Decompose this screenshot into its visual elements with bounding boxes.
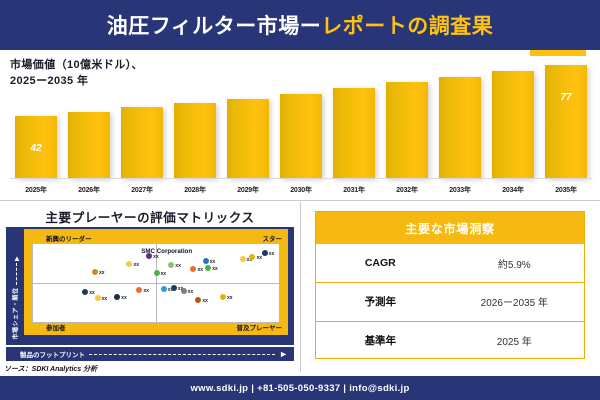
matrix-data-point-label: xx [121,295,127,301]
x-axis-tick-label: 2035年 [541,185,591,195]
matrix-data-point[interactable] [249,254,255,260]
quadrant-label-star: スター [263,233,283,243]
matrix-data-point-label: xx [212,266,218,272]
quadrant-label-emerging-leaders: 新興のリーダー [46,233,92,243]
x-axis-tick-label: 2028年 [170,185,220,195]
insight-row-key: 予測年 [316,294,445,309]
matrix-data-point[interactable] [181,288,187,294]
quadrant-label-participants: 参加者 [46,322,66,332]
matrix-x-axis-row: 製品のフットプリント ► [6,347,294,361]
footer-contact-text: www.sdki.jp | +81-505-050-9337 | info@sd… [190,383,409,394]
insight-row-value: 2025 年 [445,333,584,348]
insight-row-key: CAGR [316,257,445,269]
insight-row-value: 2026ー2035 年 [445,294,584,309]
bar [439,77,481,178]
matrix-data-point-label: xx [153,254,159,260]
matrix-data-point-label: xx [161,271,167,277]
matrix-data-point-label: xx [227,295,233,301]
x-axis-tick-label: 2026年 [64,185,114,195]
bar [68,112,110,178]
matrix-data-point[interactable] [126,261,132,267]
page-title-accent: レポートの調査果 [321,15,493,38]
matrix-data-point-label: xx [197,267,203,273]
matrix-data-point[interactable] [171,285,177,291]
matrix-data-point[interactable] [262,250,268,256]
matrix-data-point[interactable] [220,294,226,300]
matrix-data-point[interactable] [205,265,211,271]
insight-row: CAGR約5.9% [316,244,584,282]
matrix-data-point[interactable] [92,269,98,275]
matrix-data-point[interactable] [240,256,246,262]
key-market-insights-panel: 主要な市場洞察 CAGR約5.9%予測年2026ー2035 年基準年2025 年 [301,201,600,376]
matrix-horizontal-divider [33,283,279,284]
x-axis-tick-label: 2025年 [11,185,61,195]
x-axis-tick-label: 2032年 [382,185,432,195]
matrix-data-point[interactable] [82,289,88,295]
bar [492,71,534,178]
matrix-data-point[interactable] [154,270,160,276]
x-axis-dashes [89,354,275,355]
bar [386,82,428,178]
bar-value-label: 77 [545,92,587,103]
matrix-data-point[interactable] [146,253,152,259]
matrix-data-point-label: xx [99,270,105,276]
matrix-data-point-label: xx [256,255,262,261]
matrix-data-point[interactable] [161,286,167,292]
matrix-title: 主要プレーヤーの評価マトリックス [0,207,300,226]
matrix-frame: ▲ 市場シェア・順位 新興のリーダー スター 参加者 普及プレーヤー SMC C… [6,227,294,345]
matrix-data-point-label: xx [188,289,194,295]
bar [174,103,216,178]
page-footer: www.sdki.jp | +81-505-050-9337 | info@sd… [0,376,600,400]
matrix-data-point[interactable] [95,295,101,301]
matrix-data-point[interactable] [203,258,209,264]
bar [333,88,375,178]
x-axis-arrow-icon: ► [279,350,288,359]
bar [545,65,587,178]
matrix-data-point[interactable] [114,294,120,300]
x-axis-tick-label: 2033年 [435,185,485,195]
x-axis-tick-label: 2031年 [329,185,379,195]
x-axis-tick-label: 2027年 [117,185,167,195]
matrix-data-point-label: xx [210,259,216,265]
x-axis-tick-label: 2030年 [276,185,326,195]
insights-table: 主要な市場洞察 CAGR約5.9%予測年2026ー2035 年基準年2025 年 [315,211,585,359]
quadrant-label-pervasive: 普及プレーヤー [237,322,283,332]
matrix-data-point-label: xx [202,298,208,304]
matrix-data-point[interactable] [190,266,196,272]
bar-value-label: 42 [15,143,57,154]
matrix-data-point-label: xx [102,296,108,302]
insight-row-key: 基準年 [316,333,445,348]
matrix-data-point-label: xx [269,251,275,257]
bar-series: 422025年2026年2027年2028年2029年2030年2031年203… [10,53,592,178]
market-value-bar-chart: 市場価値（10億米ドル）、 2025ー2035 年 422025年2026年20… [0,50,600,200]
page-header: 油圧フィルター市場ーレポートの調査果 [0,0,600,50]
matrix-data-point[interactable] [136,287,142,293]
matrix-inner-panel: 新興のリーダー スター 参加者 普及プレーヤー SMC Corporation … [24,229,288,335]
matrix-data-point[interactable] [168,262,174,268]
matrix-data-point-label: xx [143,288,149,294]
matrix-y-axis-label: 市場シェア・順位 [11,287,20,339]
matrix-data-point[interactable] [195,297,201,303]
insight-row-value: 約5.9% [445,256,584,271]
insights-table-header: 主要な市場洞察 [316,212,584,244]
matrix-x-axis-label: 製品のフットプリント [20,349,85,359]
player-matrix-panel: 主要プレーヤーの評価マトリックス ▲ 市場シェア・順位 新興のリーダー スター … [0,201,300,376]
source-note: ソース：SDKI Analytics 分析 [4,364,97,374]
chart-baseline [10,178,592,179]
x-axis-tick-label: 2034年 [488,185,538,195]
bar [227,99,269,178]
bar [121,107,163,178]
page-title-primary: 油圧フィルター市場ー [107,15,322,38]
matrix-data-point-label: xx [175,263,181,269]
matrix-data-point-label: xx [89,290,95,296]
insight-row: 基準年2025 年 [316,321,584,359]
matrix-scatter-plot[interactable]: SMC Corporation xxxxxxxxxxxxxxxxxxxxxxxx… [32,243,280,323]
matrix-data-point-label: xx [133,262,139,268]
page-title: 油圧フィルター市場ーレポートの調査果 [107,10,494,40]
insights-table-body: CAGR約5.9%予測年2026ー2035 年基準年2025 年 [316,244,584,359]
bar [280,94,322,178]
insight-row: 予測年2026ー2035 年 [316,282,584,320]
x-axis-tick-label: 2029年 [223,185,273,195]
